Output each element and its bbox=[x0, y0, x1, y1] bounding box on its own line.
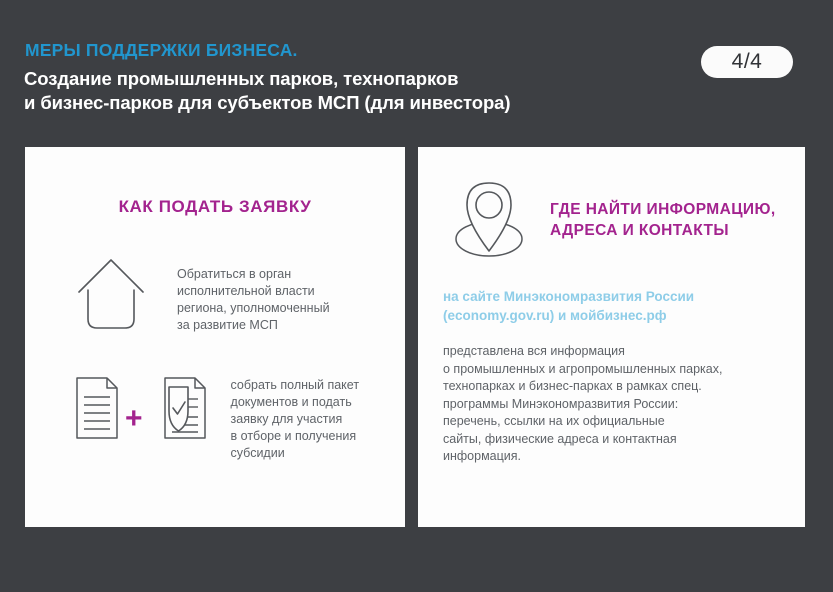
website-link-text[interactable]: на сайте Минэкономразвития России (econo… bbox=[443, 287, 694, 325]
plus-icon: + bbox=[125, 404, 143, 434]
text-line: собрать полный пакет bbox=[231, 377, 360, 394]
slide-header: МЕРЫ ПОДДЕРЖКИ БИЗНЕСА. Создание промышл… bbox=[0, 0, 833, 147]
text-line: программы Минэкономразвития России: bbox=[443, 396, 722, 414]
link-line: на сайте Минэкономразвития России bbox=[443, 287, 694, 306]
text-line: сайты, физические адреса и контактная bbox=[443, 431, 722, 449]
where-to-find-info-card: ГДЕ НАЙТИ ИНФОРМАЦИЮ, АДРЕСА И КОНТАКТЫ … bbox=[418, 147, 805, 527]
heading-line: ГДЕ НАЙТИ ИНФОРМАЦИЮ, bbox=[550, 199, 776, 220]
how-to-apply-card: КАК ПОДАТЬ ЗАЯВКУ Обратиться в орган исп… bbox=[25, 147, 405, 527]
link-line: (economy.gov.ru) и мойбизнес.рф bbox=[443, 306, 694, 325]
text-line: перечень, ссылки на их официальные bbox=[443, 413, 722, 431]
text-line: за развитие МСП bbox=[177, 317, 330, 334]
header-subtitle: Создание промышленных парков, технопарко… bbox=[24, 67, 510, 115]
header-kicker: МЕРЫ ПОДДЕРЖКИ БИЗНЕСА. bbox=[25, 40, 298, 61]
text-line: в отборе и получения bbox=[231, 428, 360, 445]
page-counter-badge: 4/4 bbox=[701, 46, 793, 78]
header-subtitle-line-1: Создание промышленных парков, технопарко… bbox=[24, 67, 510, 91]
house-icon bbox=[75, 252, 147, 334]
header-subtitle-line-2: и бизнес-парков для субъектов МСП (для и… bbox=[24, 91, 510, 115]
left-card-item-2-text: собрать полный пакет документов и подать… bbox=[231, 375, 360, 462]
left-card-item-1: Обратиться в орган исполнительной власти… bbox=[75, 252, 330, 334]
right-card-header: ГДЕ НАЙТИ ИНФОРМАЦИЮ, АДРЕСА И КОНТАКТЫ bbox=[450, 177, 776, 263]
text-line: о промышленных и агропромышленных парках… bbox=[443, 361, 722, 379]
text-line: информация. bbox=[443, 448, 722, 466]
left-card-item-1-text: Обратиться в орган исполнительной власти… bbox=[177, 252, 330, 334]
document-icon bbox=[73, 375, 121, 441]
text-line: технопарках и бизнес-парках в рамках спе… bbox=[443, 378, 722, 396]
heading-line: АДРЕСА И КОНТАКТЫ bbox=[550, 220, 776, 241]
document-with-shield-check-icon bbox=[147, 375, 209, 441]
left-card-item-2: + собрать полный пакет документов и пода… bbox=[73, 375, 359, 462]
text-line: заявку для участия bbox=[231, 411, 360, 428]
right-card-body-text: представлена вся информация о промышленн… bbox=[443, 343, 722, 466]
map-pin-icon bbox=[450, 177, 528, 263]
right-card-heading: ГДЕ НАЙТИ ИНФОРМАЦИЮ, АДРЕСА И КОНТАКТЫ bbox=[550, 199, 776, 241]
text-line: Обратиться в орган bbox=[177, 266, 330, 283]
left-card-heading: КАК ПОДАТЬ ЗАЯВКУ bbox=[25, 197, 405, 217]
text-line: представлена вся информация bbox=[443, 343, 722, 361]
text-line: документов и подать bbox=[231, 394, 360, 411]
text-line: субсидии bbox=[231, 445, 360, 462]
text-line: региона, уполномоченный bbox=[177, 300, 330, 317]
text-line: исполнительной власти bbox=[177, 283, 330, 300]
